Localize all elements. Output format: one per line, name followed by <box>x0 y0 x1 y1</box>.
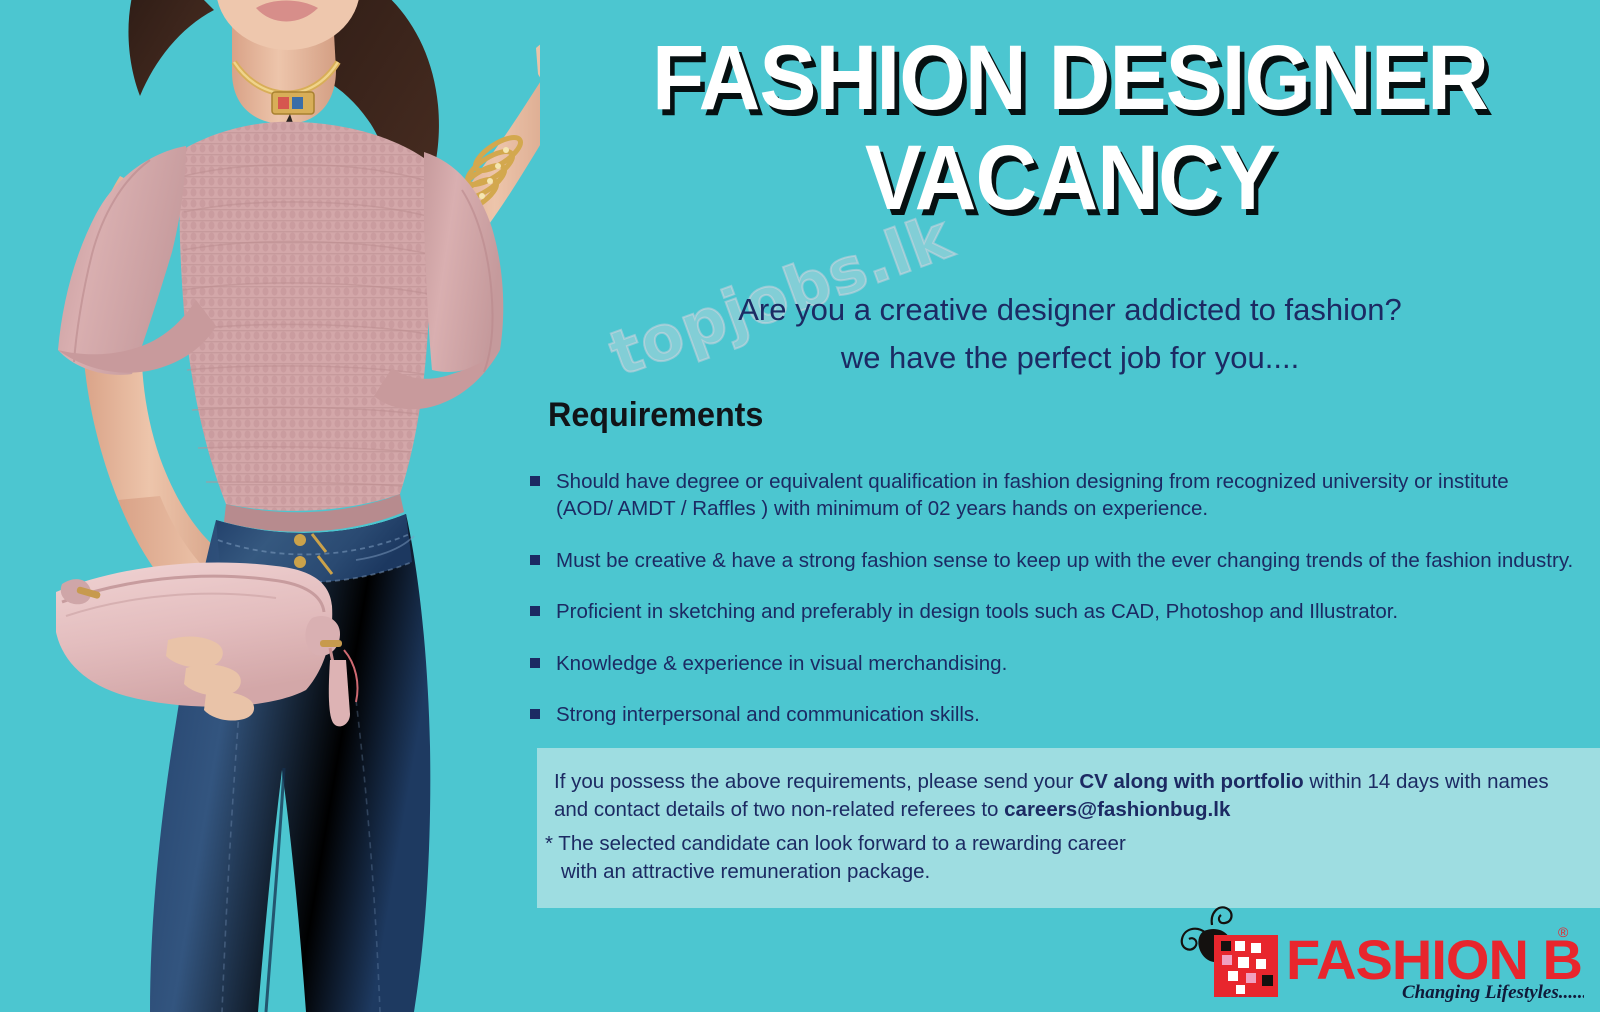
requirement-item: Strong interpersonal and communication s… <box>528 701 1588 728</box>
title-line-2: VACANCY <box>577 134 1563 222</box>
logo-tagline: Changing Lifestyles...... <box>1402 982 1584 1003</box>
requirement-line-1: Should have degree or equivalent qualifi… <box>556 468 1588 495</box>
requirement-line-1: Knowledge & experience in visual merchan… <box>556 650 1588 677</box>
requirement-item: Should have degree or equivalent qualifi… <box>528 468 1588 523</box>
poster-root: topjobs.lk FASHION DESIGNER VACANCY Are … <box>0 0 1600 1012</box>
bullet-square-icon <box>530 476 540 486</box>
model-photo <box>0 0 540 1012</box>
requirement-line-1: Strong interpersonal and communication s… <box>556 701 1588 728</box>
requirement-item: Proficient in sketching and preferably i… <box>528 598 1588 625</box>
bullet-square-icon <box>530 606 540 616</box>
requirement-line-1: Proficient in sketching and preferably i… <box>556 598 1588 625</box>
application-note: * The selected candidate can look forwar… <box>545 830 1545 885</box>
bullet-square-icon <box>530 658 540 668</box>
apply-email[interactable]: careers@fashionbug.lk <box>1004 798 1230 821</box>
bullet-square-icon <box>530 709 540 719</box>
requirements-list: Should have degree or equivalent qualifi… <box>528 468 1588 753</box>
application-panel: If you possess the above requirements, p… <box>537 748 1600 908</box>
requirements-heading: Requirements <box>548 396 763 435</box>
note-line-1: * The selected candidate can look forwar… <box>545 832 1126 855</box>
fashion-bug-logo: FASHION BUG ® Changing Lifestyles...... <box>1166 903 1584 1003</box>
requirement-item: Knowledge & experience in visual merchan… <box>528 650 1588 677</box>
apply-cv-emphasis: CV along with portfolio <box>1079 770 1303 793</box>
model-photo-illustration <box>0 0 540 1012</box>
logo-registered-mark: ® <box>1558 924 1569 940</box>
subtitle: Are you a creative designer addicted to … <box>540 286 1600 382</box>
page-title: FASHION DESIGNER VACANCY <box>540 34 1600 223</box>
apply-text-before: If you possess the above requirements, p… <box>554 770 1079 793</box>
requirement-line-2: (AOD/ AMDT / Raffles ) with minimum of 0… <box>556 495 1588 522</box>
logo-illustration: FASHION BUG ® Changing Lifestyles...... <box>1166 903 1584 1003</box>
subtitle-line-1: Are you a creative designer addicted to … <box>540 286 1600 334</box>
note-line-2: with an attractive remuneration package. <box>545 858 1545 886</box>
requirement-line-1: Must be creative & have a strong fashion… <box>556 547 1588 574</box>
application-instructions: If you possess the above requirements, p… <box>554 768 1554 823</box>
title-line-1: FASHION DESIGNER <box>577 34 1563 122</box>
requirement-item: Must be creative & have a strong fashion… <box>528 547 1588 574</box>
bullet-square-icon <box>530 555 540 565</box>
subtitle-line-2: we have the perfect job for you.... <box>540 334 1600 382</box>
